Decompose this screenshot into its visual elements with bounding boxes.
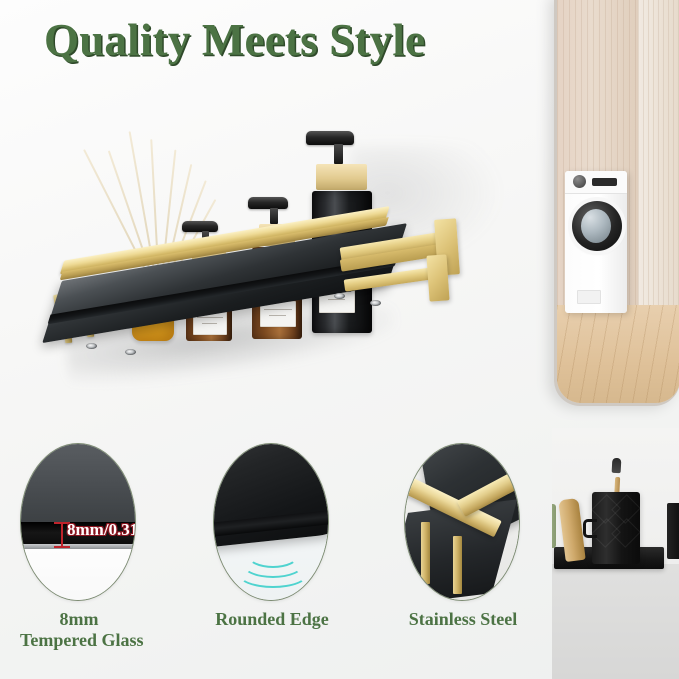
inset-background <box>20 549 136 601</box>
feature-2-inset <box>213 443 329 601</box>
glass-top-surface <box>20 443 136 524</box>
washer-display <box>592 178 617 186</box>
feature-3-label-line1: Stainless Steel <box>404 609 522 630</box>
mirror-frame <box>554 0 679 406</box>
curtain-texture <box>638 0 679 346</box>
toothbrush-cup <box>592 492 640 564</box>
floor-planks <box>557 305 679 403</box>
dimension-line <box>61 522 63 548</box>
washer-knob-icon <box>573 175 586 188</box>
washer-door-glass <box>581 209 611 243</box>
smoothness-arc-3 <box>237 558 309 588</box>
feature-1-inset: 8mm/0.31″ <box>20 443 136 601</box>
mirror-scene <box>548 0 679 414</box>
feature-2-label-line1: Rounded Edge <box>213 609 331 630</box>
dimension-tick-bottom <box>54 546 70 548</box>
feature-stainless-steel: Stainless Steel <box>404 443 522 630</box>
feature-2-label: Rounded Edge <box>213 609 331 630</box>
washer-logo <box>577 290 601 304</box>
reflected-floor <box>557 305 679 403</box>
mirror-glass <box>557 0 679 403</box>
feature-3-inset <box>404 443 520 601</box>
feature-1-label-line2: Tempered Glass <box>20 630 138 651</box>
hero-product <box>40 115 510 415</box>
green-prop-item <box>552 504 556 548</box>
washing-machine <box>565 171 627 313</box>
product-feature-image: Quality Meets Style <box>0 0 679 679</box>
thickness-callout: 8mm/0.31″ <box>67 520 136 540</box>
washer-door <box>572 201 622 251</box>
gold-post-2 <box>453 536 462 594</box>
gold-post-1 <box>421 522 430 584</box>
washer-control-panel <box>565 171 627 194</box>
prop-scene <box>552 428 679 679</box>
toothbrush-head <box>612 458 622 473</box>
corner-highlight <box>213 443 275 466</box>
feature-rounded-edge: Rounded Edge <box>213 443 331 630</box>
page-title: Quality Meets Style <box>44 18 544 63</box>
black-prop-item <box>667 503 679 559</box>
feature-tempered-glass: 8mm/0.31″ 8mm Tempered Glass <box>20 443 138 651</box>
reflected-curtain <box>638 0 679 346</box>
prop-counter <box>552 564 679 679</box>
feature-1-label-line1: 8mm <box>20 609 138 630</box>
cup-handle <box>583 519 597 538</box>
feature-3-label: Stainless Steel <box>404 609 522 630</box>
feature-1-label: 8mm Tempered Glass <box>20 609 138 651</box>
